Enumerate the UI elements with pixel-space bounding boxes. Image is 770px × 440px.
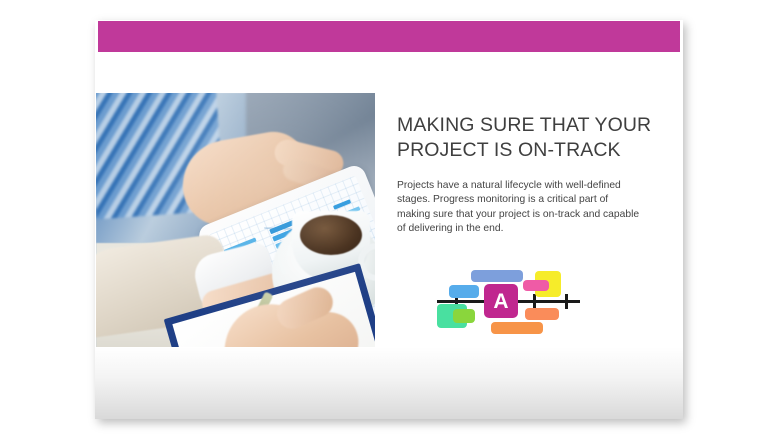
gantt-bar-blue: [449, 285, 479, 298]
gantt-bar-green-lime: [453, 309, 475, 323]
gantt-bar-blue-light: [471, 270, 523, 282]
gantt-bar-orange: [525, 308, 559, 320]
slide-body-text: Projects have a natural lifecycle with w…: [397, 179, 643, 237]
timeline-tick: [533, 294, 536, 309]
presentation-slide: MAKING SURE THAT YOUR PROJECT IS ON-TRAC…: [95, 20, 683, 419]
gantt-bar-pink: [523, 280, 549, 291]
gantt-timeline-graphic: A: [435, 262, 585, 338]
slide-photo: [96, 93, 375, 347]
gantt-app-icon: A: [484, 284, 518, 318]
timeline-tick: [565, 294, 568, 309]
screenshot-root: MAKING SURE THAT YOUR PROJECT IS ON-TRAC…: [0, 0, 770, 440]
photo-highlight-overlay: [96, 93, 375, 347]
gantt-bar-orange-long: [491, 322, 543, 334]
slide-title: MAKING SURE THAT YOUR PROJECT IS ON-TRAC…: [397, 113, 659, 163]
slide-accent-banner: [98, 21, 680, 52]
slide-bottom-gradient: [95, 347, 683, 419]
